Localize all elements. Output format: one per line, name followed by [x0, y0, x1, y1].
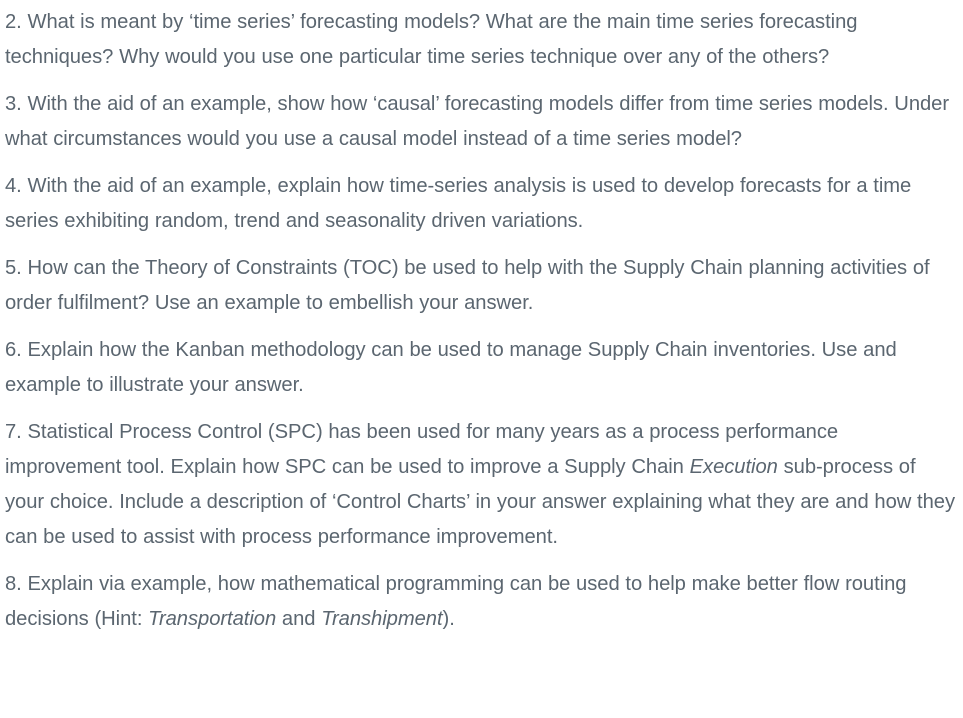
question-text-run: and — [276, 608, 321, 630]
emphasised-term: Execution — [690, 456, 778, 478]
question-item: 4. With the aid of an example, explain h… — [5, 169, 958, 239]
question-text-run: 4. With the aid of an example, explain h… — [5, 175, 911, 232]
question-item: 2. What is meant by ‘time series’ foreca… — [5, 0, 958, 75]
question-item: 3. With the aid of an example, show how … — [5, 87, 958, 157]
question-item: 5. How can the Theory of Constraints (TO… — [5, 251, 958, 321]
question-text-run: 2. What is meant by ‘time series’ foreca… — [5, 11, 857, 68]
question-text-run: 3. With the aid of an example, show how … — [5, 93, 949, 150]
question-text-run: 8. Explain via example, how mathematical… — [5, 573, 906, 630]
emphasised-term: Transhipment — [321, 608, 442, 630]
question-text-run: ). — [443, 608, 455, 630]
question-item: 7. Statistical Process Control (SPC) has… — [5, 415, 958, 555]
emphasised-term: Transportation — [148, 608, 276, 630]
question-item: 6. Explain how the Kanban methodology ca… — [5, 333, 958, 403]
document-page: 2. What is meant by ‘time series’ foreca… — [0, 0, 963, 718]
question-text-run: 5. How can the Theory of Constraints (TO… — [5, 257, 930, 314]
question-item: 8. Explain via example, how mathematical… — [5, 567, 958, 637]
question-text-run: 6. Explain how the Kanban methodology ca… — [5, 339, 897, 396]
